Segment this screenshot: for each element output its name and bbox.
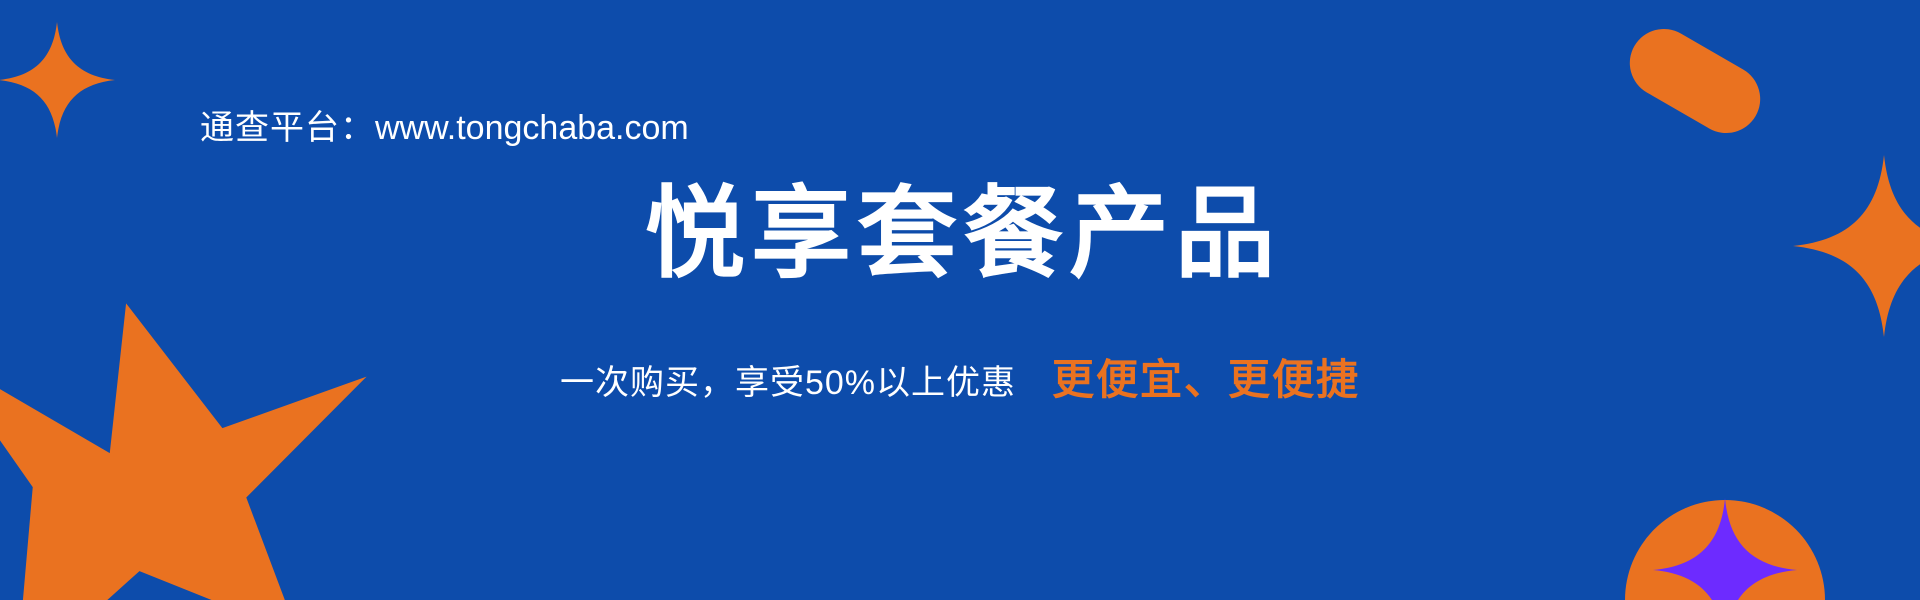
subtitle-line: 一次购买，享受50%以上优惠更便宜、更便捷 xyxy=(0,355,1920,405)
promo-banner: 通查平台：www.tongchaba.com 悦享套餐产品 一次购买，享受50%… xyxy=(0,0,1920,600)
site-url: www.tongchaba.com xyxy=(375,109,689,147)
site-line: 通查平台：www.tongchaba.com xyxy=(200,110,689,147)
site-label: 通查平台： xyxy=(200,109,375,147)
page-title: 悦享套餐产品 xyxy=(0,182,1920,287)
subtitle-plain-text: 一次购买，享受50%以上优惠 xyxy=(560,364,1016,402)
banner-content: 通查平台：www.tongchaba.com 悦享套餐产品 一次购买，享受50%… xyxy=(0,0,1920,600)
subtitle-highlight-text: 更便宜、更便捷 xyxy=(1052,356,1360,403)
